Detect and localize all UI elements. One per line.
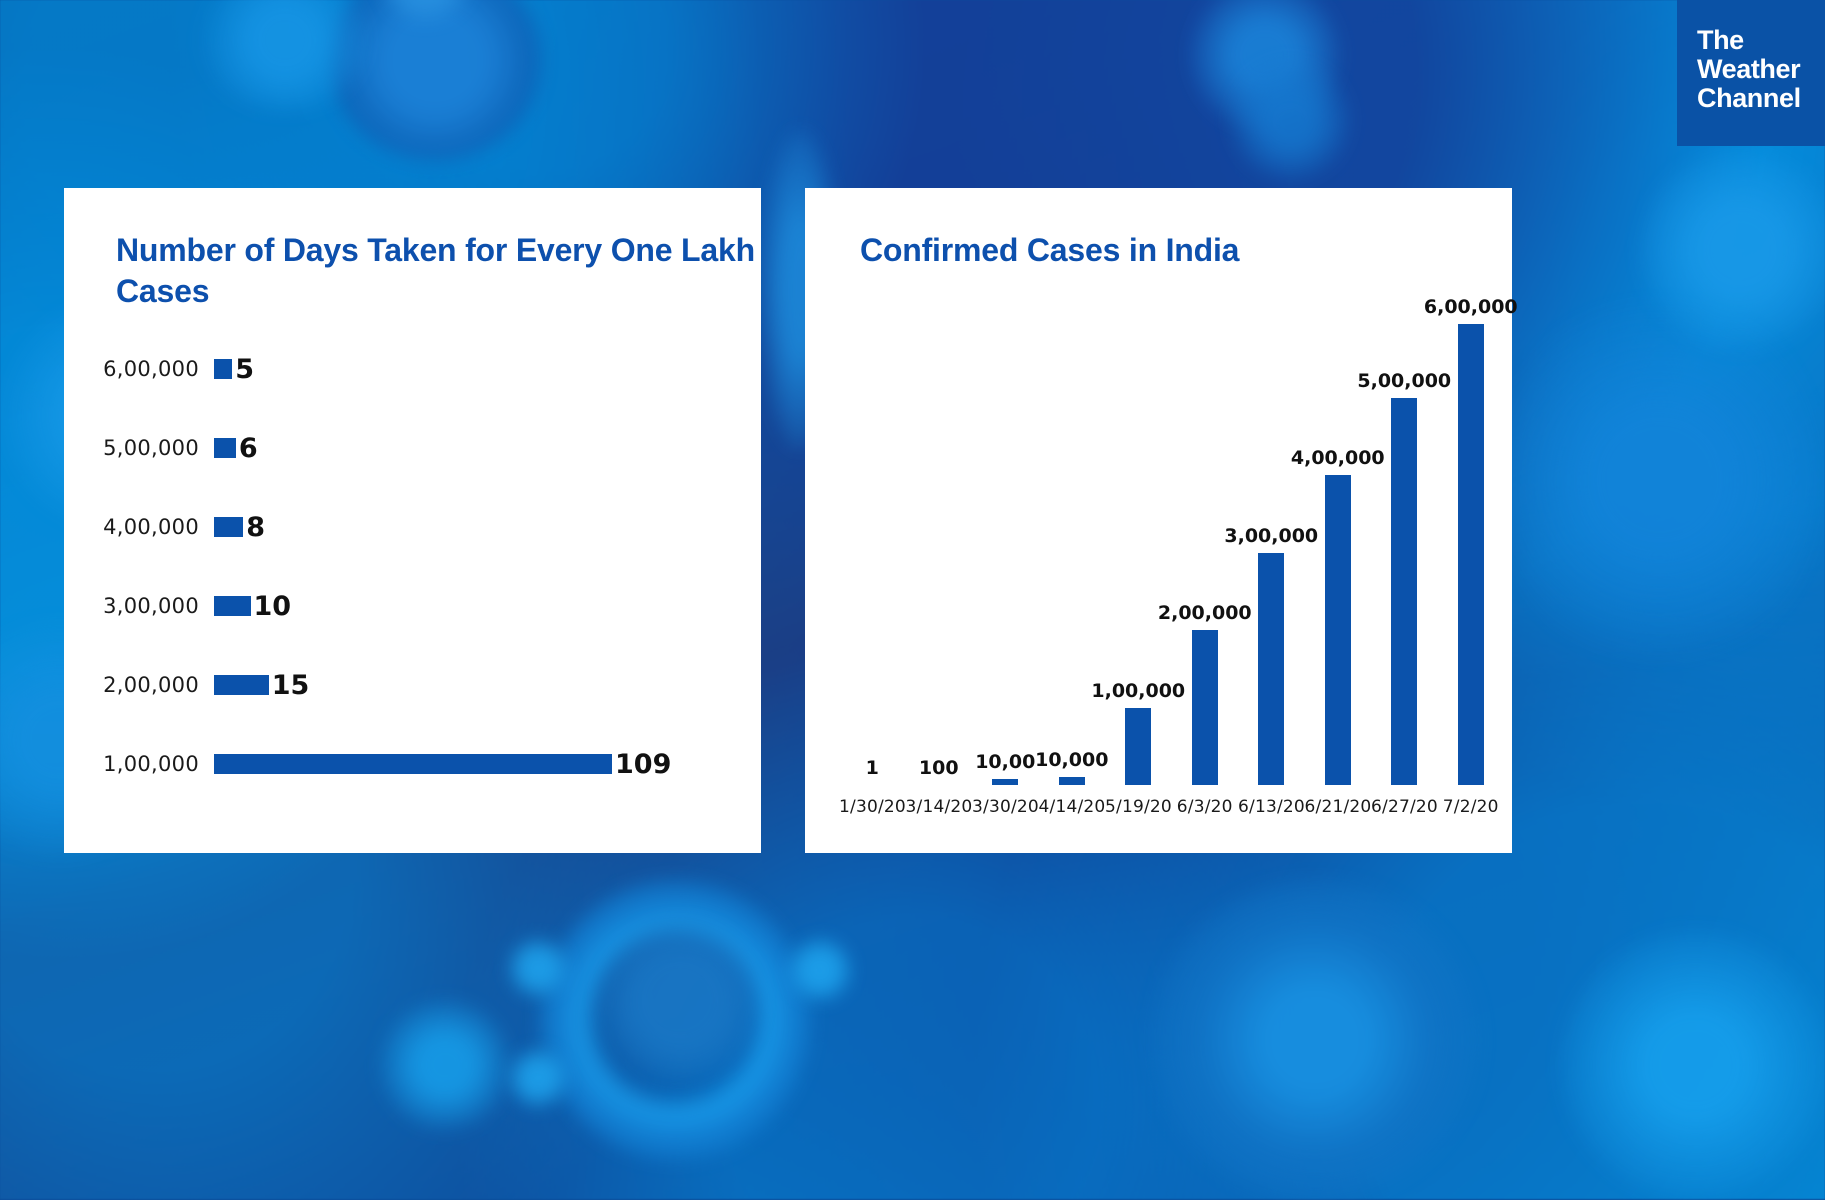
- bar-category-label: 4,00,000: [64, 515, 214, 539]
- horizontal-bar-chart: 6,00,00055,00,00064,00,00083,00,000102,0…: [64, 338, 761, 811]
- bar-rect: [214, 596, 251, 616]
- bar-rect: [1458, 324, 1484, 785]
- logo-line-1: The: [1697, 26, 1825, 55]
- bar-value-label: 10: [254, 591, 292, 622]
- bar-rect: [1391, 398, 1417, 786]
- bar-row: 2,00,00015: [64, 670, 761, 700]
- bar-column: 100: [906, 296, 973, 785]
- bar-rect: [1059, 777, 1085, 785]
- virus-particle-decoration: [1560, 930, 1825, 1200]
- vertical-bar-plot-area: 110010,0010,0001,00,0002,00,0003,00,0004…: [825, 296, 1504, 785]
- bar-value-label: 10,000: [1035, 749, 1108, 771]
- bar-value-label: 1: [866, 757, 879, 779]
- bar-rect: [1258, 553, 1284, 786]
- bar-category-label: 2,00,000: [64, 673, 214, 697]
- virus-particle-decoration: [600, 920, 760, 1080]
- bar-category-label: 1,00,000: [64, 752, 214, 776]
- bar-rect: [214, 517, 243, 537]
- bar-rect: [214, 438, 236, 458]
- bar-rect: [214, 675, 269, 695]
- vertical-bar-chart: 110010,0010,0001,00,0002,00,0003,00,0004…: [825, 296, 1504, 825]
- bar-row: 3,00,00010: [64, 591, 761, 621]
- page-title-right: Confirmed Cases in India: [860, 230, 1500, 271]
- bar-value-label: 6,00,000: [1424, 296, 1518, 318]
- bar-column: 1: [839, 296, 906, 785]
- bar-column: 3,00,000: [1238, 296, 1305, 785]
- virus-particle-decoration: [790, 940, 850, 1000]
- bar-value-label: 10,00: [975, 751, 1035, 773]
- axis-tick-label: 3/30/20: [972, 797, 1039, 817]
- bar-value-label: 15: [272, 670, 310, 701]
- virus-particle-decoration: [510, 1050, 566, 1106]
- axis-tick-label: 6/3/20: [1172, 797, 1239, 817]
- bar-column: 5,00,000: [1371, 296, 1438, 785]
- axis-tick-label: 3/14/20: [906, 797, 973, 817]
- axis-tick-label: 6/13/20: [1238, 797, 1305, 817]
- bar-row: 4,00,0008: [64, 512, 761, 542]
- the-weather-channel-logo: The Weather Channel: [1677, 0, 1825, 146]
- logo-line-3: Channel: [1697, 84, 1825, 113]
- bar-rect: [214, 359, 232, 379]
- bar-column: 10,000: [1039, 296, 1106, 785]
- bar-value-label: 100: [919, 757, 959, 779]
- bar-column: 1,00,000: [1105, 296, 1172, 785]
- virus-particle-decoration: [1230, 60, 1350, 180]
- page-title-left: Number of Days Taken for Every One Lakh …: [116, 230, 756, 312]
- virus-particle-decoration: [1640, 150, 1825, 350]
- bar-value-label: 8: [246, 512, 265, 543]
- bar-rect: [214, 754, 612, 774]
- axis-tick-label: 6/27/20: [1371, 797, 1438, 817]
- bar-rect: [1192, 630, 1218, 785]
- bar-rect: [992, 779, 1018, 785]
- virus-particle-decoration: [380, 1000, 510, 1130]
- axis-tick-label: 4/14/20: [1039, 797, 1106, 817]
- virus-particle-decoration: [510, 940, 566, 996]
- bar-value-label: 109: [615, 749, 671, 780]
- axis-tick-label: 7/2/20: [1438, 797, 1505, 817]
- virus-particle-decoration: [1150, 880, 1480, 1200]
- axis-tick-label: 1/30/20: [839, 797, 906, 817]
- bar-rect: [1325, 475, 1351, 785]
- bar-column: 6,00,000: [1438, 296, 1505, 785]
- bar-value-label: 5: [235, 354, 254, 385]
- axis-tick-label: 5/19/20: [1105, 797, 1172, 817]
- chart-panel-confirmed-cases: Confirmed Cases in India 110010,0010,000…: [805, 188, 1512, 853]
- logo-line-2: Weather: [1697, 55, 1825, 84]
- bar-row: 1,00,000109: [64, 749, 761, 779]
- axis-tick-label: 6/21/20: [1305, 797, 1372, 817]
- bar-category-label: 6,00,000: [64, 357, 214, 381]
- bar-rect: [1125, 708, 1151, 786]
- bar-row: 6,00,0005: [64, 354, 761, 384]
- bar-category-label: 5,00,000: [64, 436, 214, 460]
- bar-value-label: 6: [239, 433, 258, 464]
- bar-row: 5,00,0006: [64, 433, 761, 463]
- bar-category-label: 3,00,000: [64, 594, 214, 618]
- chart-panel-days-per-lakh: Number of Days Taken for Every One Lakh …: [64, 188, 761, 853]
- bar-column: 10,00: [972, 296, 1039, 785]
